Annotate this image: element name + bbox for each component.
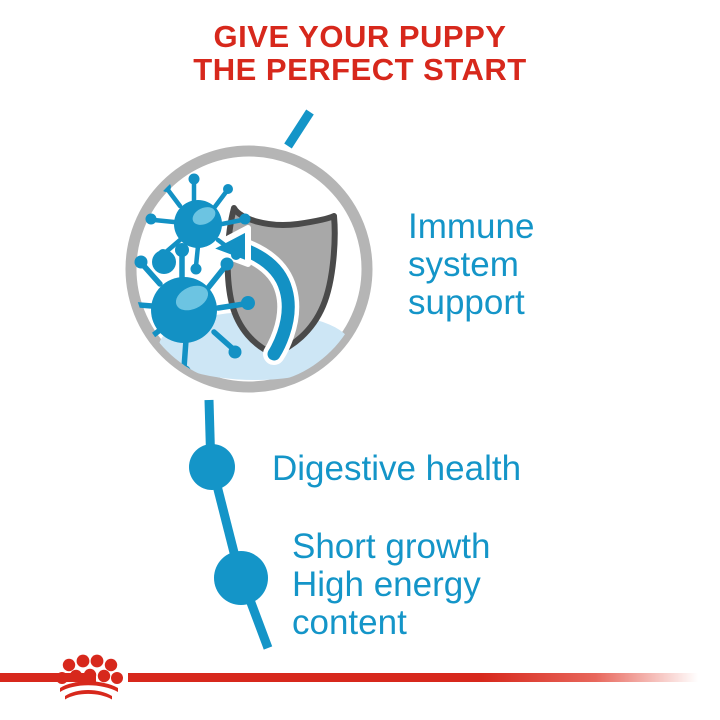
connector-segment-1 [209,400,211,470]
bullet-dot-icon [214,551,268,605]
immune-shield-illustration [122,142,376,396]
germ-dot-icon [152,250,176,274]
connector-tick-top [288,112,310,146]
promo-card: GIVE YOUR PUPPY THE PERFECT START [0,0,720,720]
benefit-label-digestive: Digestive health [272,450,521,488]
headline-line-2: THE PERFECT START [0,53,720,86]
benefit-label-immune: Immune system support [408,208,534,322]
connector-segment-3 [241,576,268,648]
connector-segment-2 [212,466,241,580]
page-title: GIVE YOUR PUPPY THE PERFECT START [0,20,720,86]
brand-bar-right [128,673,698,682]
headline-line-1: GIVE YOUR PUPPY [0,20,720,53]
benefit-label-growth: Short growth High energy content [292,528,490,642]
bullet-dot-icon [189,444,235,490]
royal-canin-crown-logo [52,652,126,700]
